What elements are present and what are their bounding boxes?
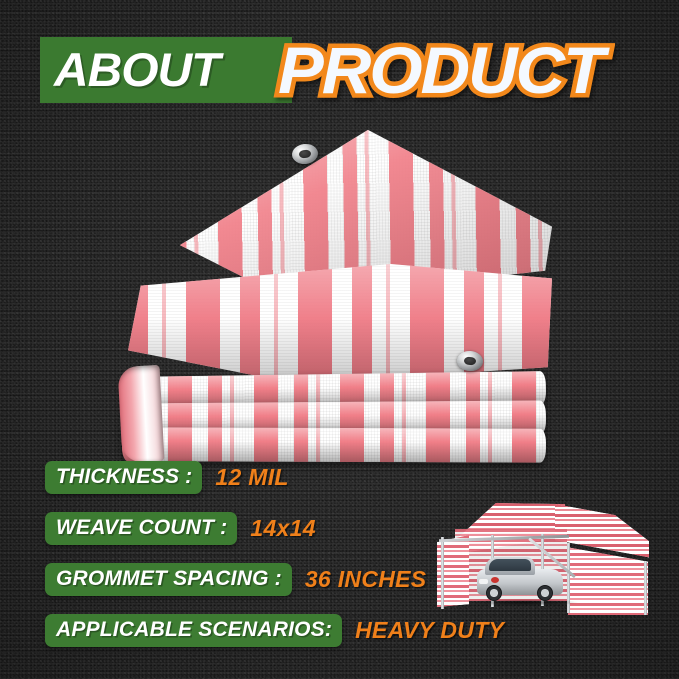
spec-value-thickness: 12 MIL: [215, 465, 288, 489]
spec-label-grommet-spacing: GROMMET SPACING :: [45, 563, 292, 596]
spec-row-thickness: THICKNESS : 12 MIL: [45, 460, 645, 494]
carport-frame-post: [644, 561, 647, 615]
spec-value-weave-count: 14x14: [250, 516, 315, 540]
carport-frame-post: [441, 537, 444, 609]
car-window: [489, 559, 531, 571]
spec-value-applicable-scenarios: HEAVY DUTY: [355, 618, 504, 642]
product-infographic: ABOUT PRODUCT THICKNESS : 12 MIL WEAVE C…: [0, 0, 679, 679]
tarp-fold-shading: [122, 427, 546, 462]
tarp-rolled-edge: [118, 365, 165, 463]
header-banner: ABOUT PRODUCT: [40, 34, 654, 106]
car-wheel: [537, 585, 553, 601]
spec-label-weave-count: WEAVE COUNT :: [45, 512, 237, 545]
spec-label-thickness: THICKNESS :: [45, 461, 202, 494]
car-wheel: [486, 585, 502, 601]
spec-row-applicable-scenarios: APPLICABLE SCENARIOS: HEAVY DUTY: [45, 613, 645, 647]
product-photo-tarp: [112, 126, 552, 462]
page-title-product: PRODUCT: [278, 30, 603, 110]
grommet-icon: [291, 143, 319, 166]
car-badge-icon: [491, 577, 499, 583]
tarp-mid-fold-shading: [128, 264, 552, 384]
spec-label-applicable-scenarios: APPLICABLE SCENARIOS:: [45, 614, 342, 647]
car-ground-shadow: [469, 599, 579, 606]
carport-inset-image: [429, 501, 651, 617]
spec-value-grommet-spacing: 36 INCHES: [305, 567, 427, 591]
page-title-about: ABOUT: [54, 44, 219, 96]
car-headlight: [479, 579, 488, 584]
